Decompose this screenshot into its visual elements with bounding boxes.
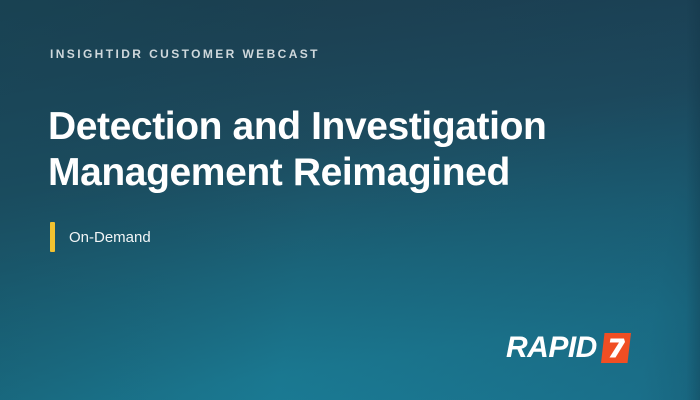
eyebrow-label: INSIGHTIDR CUSTOMER WEBCAST <box>50 47 320 61</box>
webcast-promo-slide: INSIGHTIDR CUSTOMER WEBCAST Detection an… <box>0 0 700 400</box>
availability-badge: On-Demand <box>50 222 151 252</box>
rapid7-seven-mark-icon <box>598 333 634 363</box>
rapid7-wordmark: RAPID <box>506 333 597 363</box>
accent-bar <box>50 222 55 252</box>
slide-content: INSIGHTIDR CUSTOMER WEBCAST Detection an… <box>0 0 700 400</box>
rapid7-logo: RAPID <box>506 330 634 366</box>
page-title-line-2: Management Reimagined <box>48 150 648 196</box>
page-title-line-1: Detection and Investigation <box>48 104 648 150</box>
availability-label: On-Demand <box>69 229 151 246</box>
page-title: Detection and Investigation Management R… <box>48 104 648 196</box>
